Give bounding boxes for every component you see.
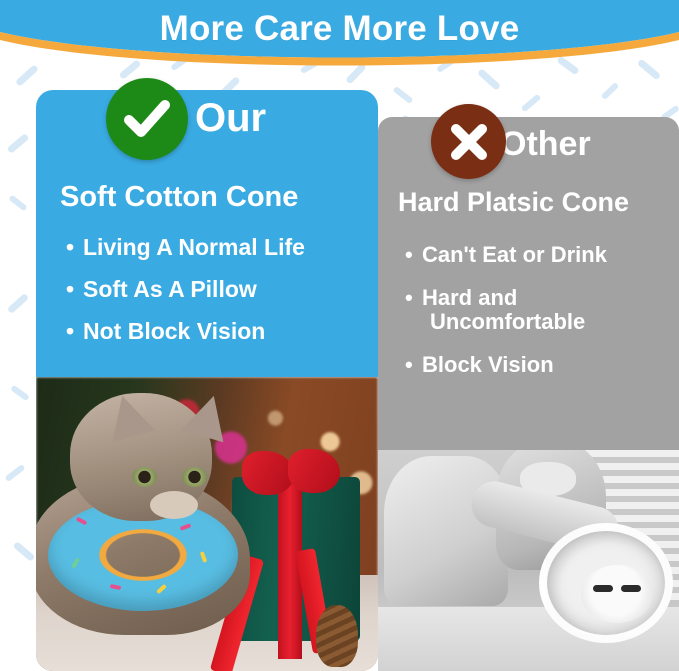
list-item-line1: Hard and	[422, 285, 517, 310]
gift-bow-left	[242, 451, 294, 495]
sprinkle	[71, 557, 80, 569]
page-title: More Care More Love	[0, 0, 679, 57]
sprinkle	[156, 584, 167, 594]
list-item-line1: Block Vision	[422, 352, 554, 377]
header-banner: More Care More Love	[0, 0, 679, 78]
sprinkle	[76, 517, 88, 526]
our-column	[36, 90, 378, 671]
cat-ear-left	[101, 390, 155, 443]
list-item: Block Vision	[405, 353, 607, 378]
sprinkle	[200, 551, 208, 563]
cat-head-shape	[70, 393, 212, 521]
other-feature-list: Can't Eat or Drink Hard and Uncomfortabl…	[405, 243, 607, 396]
other-subheading: Hard Platsic Cone	[398, 188, 629, 216]
other-product-photo	[378, 450, 679, 671]
pinecone-shape	[316, 605, 358, 667]
cat-muzzle	[150, 491, 198, 519]
list-item: Soft As A Pillow	[66, 278, 305, 301]
x-circle-icon	[431, 104, 506, 179]
our-heading: Our	[195, 98, 266, 138]
list-item: Can't Eat or Drink	[405, 243, 607, 268]
list-item-line2: Uncomfortable	[422, 310, 607, 335]
coned-cat-face-shape	[581, 565, 653, 623]
product-comparison-graphic: More Care More Love	[0, 0, 679, 671]
gift-bow-right	[288, 449, 340, 493]
list-item-line1: Can't Eat or Drink	[422, 242, 607, 267]
list-item: Hard and Uncomfortable	[405, 286, 607, 335]
other-heading: Other	[500, 127, 591, 161]
sprinkle	[180, 523, 192, 531]
our-product-photo	[36, 377, 378, 671]
check-mark-glyph	[121, 93, 173, 145]
check-circle-icon	[106, 78, 188, 160]
vet-person-left-shape	[384, 456, 508, 606]
coned-cat-eye-left	[593, 585, 613, 592]
coned-cat-eye-right	[621, 585, 641, 592]
list-item: Not Block Vision	[66, 320, 305, 343]
our-subheading: Soft Cotton Cone	[60, 182, 298, 212]
cat-eye-left	[132, 467, 157, 487]
x-mark-glyph	[447, 120, 491, 164]
sprinkle	[110, 584, 122, 590]
list-item: Living A Normal Life	[66, 236, 305, 259]
cat-eye-right	[182, 467, 207, 487]
our-feature-list: Living A Normal Life Soft As A Pillow No…	[66, 236, 305, 362]
